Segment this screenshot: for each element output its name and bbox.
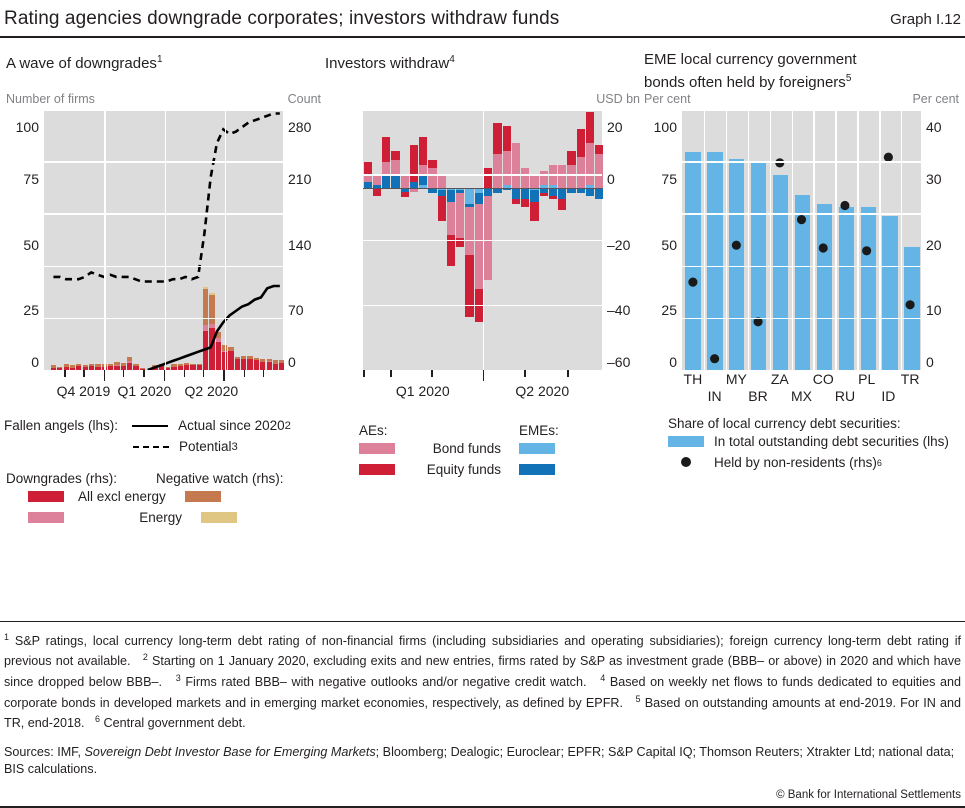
negwatch-legend-header: Negative watch (rhs): (156, 471, 284, 486)
bar-segment (493, 123, 501, 154)
bar-segment (438, 196, 446, 221)
eme-legend-header: EMEs: (519, 423, 559, 438)
panel1-unit-left: Number of firms (6, 92, 95, 107)
y-tick-label: 0 (602, 171, 615, 187)
bar-segment (558, 188, 566, 199)
bar-segment (558, 165, 566, 187)
y-tick-label: 50 (661, 237, 682, 253)
x-axis-label: Q1 2020 (396, 383, 450, 399)
gridline (682, 318, 921, 320)
swatch-ae-bond (359, 443, 395, 454)
gridline (682, 213, 921, 215)
gridline (682, 266, 921, 268)
y-tick-label: 0 (283, 354, 296, 370)
panel1-legend-bars: Downgrades (rhs): Negative watch (rhs): … (4, 471, 323, 528)
country-label: TR (901, 371, 920, 387)
y-tick-label: 30 (921, 171, 942, 187)
legend-potential-label: Potential (179, 439, 232, 454)
bar-segment (465, 255, 473, 317)
panels-row: A wave of downgrades1 Number of firms Co… (0, 38, 965, 528)
panel1-plot: 1007550250280210140700 (44, 109, 283, 370)
panel3-plot: 1007550250403020100 (682, 109, 921, 370)
bar-segment (540, 193, 548, 196)
legend-label-bond-funds: Bond funds (395, 441, 501, 456)
y-tick-label: 70 (283, 302, 304, 318)
data-point-dot (906, 300, 915, 309)
y-tick-label: 50 (23, 237, 44, 253)
bar-segment (558, 199, 566, 210)
gridline (44, 266, 283, 268)
bar-segment (493, 154, 501, 188)
bar-segment (382, 176, 390, 187)
data-point-dot (710, 354, 719, 363)
bar-segment (530, 190, 538, 201)
dot-marker-icon (668, 455, 704, 470)
bar-segment (521, 168, 529, 188)
country-label: RU (835, 388, 855, 404)
bar-segment (447, 190, 455, 201)
bar-segment (456, 193, 464, 238)
panel1-title-text: A wave of downgrades (6, 55, 157, 72)
bar-segment (503, 151, 511, 185)
gridline (44, 213, 283, 215)
swatch-downgrades-energy (28, 512, 64, 523)
x-tick-major (104, 370, 106, 381)
country-label: MX (791, 388, 812, 404)
panel1-title: A wave of downgrades1 (4, 50, 323, 92)
bar-segment (567, 151, 575, 165)
bar-segment (447, 202, 455, 236)
bar-segment (521, 188, 529, 199)
panel3-unit-left: Per cent (644, 92, 691, 107)
data-point-dot (775, 158, 784, 167)
panel1-units: Number of firms Count (4, 92, 323, 109)
country-label: IN (708, 388, 722, 404)
legend-label-nonresidents: Held by non-residents (rhs) (714, 455, 877, 470)
quarter-divider (165, 109, 167, 370)
panel3-country-labels: THINMYBRZAMXCORUPLIDTR (682, 370, 921, 410)
x-tick-minor (431, 370, 433, 377)
bar-segment (484, 196, 492, 280)
country-label: TH (684, 371, 703, 387)
legend-row-equity-funds: Equity funds (359, 459, 642, 480)
bar-segment (549, 196, 557, 199)
bar-segment (503, 126, 511, 151)
bar-segment (595, 145, 603, 153)
x-tick-minor (390, 370, 392, 377)
y-tick-label: –60 (602, 354, 630, 370)
footnote-text: Central government debt. (100, 717, 246, 731)
panel2-legend: AEs: EMEs: Bond funds Equity funds (323, 423, 642, 480)
y-tick-label: 0 (921, 354, 934, 370)
panel1-unit-right: Count (288, 92, 321, 107)
x-tick-major (164, 370, 166, 381)
quarter-divider (483, 109, 485, 370)
bar-segment (512, 143, 520, 188)
panel3-legend-header: Share of local currency debt securities: (668, 416, 961, 431)
x-tick-minor (123, 370, 125, 377)
y-tick-label: 75 (661, 171, 682, 187)
panel3-title-line2: bonds often held by foreigners (644, 74, 846, 91)
bar-segment (512, 188, 520, 199)
country-label: BR (748, 388, 767, 404)
y-tick-label: 140 (283, 237, 311, 253)
data-point-dot (862, 246, 871, 255)
downgrades-legend-header: Downgrades (rhs): (6, 471, 156, 486)
bar-segment (428, 168, 436, 188)
bar-segment (391, 176, 399, 187)
panel-eme-bonds: EME local currency government bonds ofte… (642, 50, 961, 528)
y-tick-label: –40 (602, 302, 630, 318)
y-tick-label: 40 (921, 119, 942, 135)
panel2-plot: 200–20–40–60 (363, 109, 602, 370)
x-tick-minor (524, 370, 526, 377)
x-axis-label: Q2 2020 (515, 383, 569, 399)
x-tick-minor (363, 370, 365, 377)
panel2-unit-right: USD bn (596, 92, 640, 107)
bar-segment (540, 171, 548, 185)
bar-segment (465, 207, 473, 255)
legend-potential-footnote-ref: 3 (232, 441, 238, 453)
panel1-title-footnote-ref: 1 (157, 54, 163, 65)
bar-segment (484, 168, 492, 188)
x-tick-minor (263, 370, 265, 377)
footnote-text: Firms rated BBB– with negative outlooks … (181, 675, 600, 689)
bar-segment (419, 137, 427, 165)
bar-segment (465, 188, 473, 205)
quarter-divider (104, 109, 106, 370)
bar-segment (391, 151, 399, 159)
panel3-legend: Share of local currency debt securities:… (642, 416, 961, 473)
bar-segment (586, 143, 594, 185)
y-tick-label: –20 (602, 237, 630, 253)
dashed-line-icon (133, 446, 169, 448)
bar-segment (438, 176, 446, 187)
legend-row-nonresidents: Held by non-residents (rhs)6 (668, 452, 961, 473)
x-axis-label: Q4 2019 (57, 383, 111, 399)
panel-downgrades: A wave of downgrades1 Number of firms Co… (4, 50, 323, 528)
data-point-dot (688, 278, 697, 287)
panel2-units: USD bn (323, 92, 642, 109)
y-tick-label: 25 (661, 302, 682, 318)
data-point-dot (732, 241, 741, 250)
y-tick-label: 0 (669, 354, 682, 370)
x-tick-minor (244, 370, 246, 377)
legend-label-all-excl-energy: All excl energy (78, 489, 166, 504)
quarter-divider (225, 109, 227, 370)
page-title: Rating agencies downgrade corporates; in… (4, 8, 559, 30)
legend-actual-label: Actual since 2020 (178, 418, 285, 433)
bar-segment (577, 129, 585, 157)
panel3-title-line1: EME local currency government (644, 51, 857, 68)
panel3-dots (682, 109, 921, 370)
panel2-title-text: Investors withdraw (325, 55, 449, 72)
potential-line (53, 114, 279, 282)
x-tick-major (483, 370, 485, 381)
legend-row-total-outstanding: In total outstanding debt securities (lh… (668, 431, 961, 452)
bar-segment (595, 188, 603, 199)
x-axis-label: Q2 2020 (184, 383, 238, 399)
y-tick-label: 20 (921, 237, 942, 253)
x-tick-minor (83, 370, 85, 377)
legend-row-energy: Energy (6, 507, 323, 528)
panel-investors-withdraw: Investors withdraw4 USD bn 200–20–40–60 … (323, 50, 642, 528)
solid-line-icon (132, 425, 168, 427)
y-tick-label: 100 (654, 119, 682, 135)
country-label: PL (858, 371, 875, 387)
panel3-title-footnote-ref: 5 (846, 73, 852, 84)
swatch-eme-bar (668, 436, 704, 447)
data-point-dot (840, 201, 849, 210)
bar-segment (419, 165, 427, 173)
legend-label-equity-funds: Equity funds (395, 462, 501, 477)
x-tick-minor (203, 370, 205, 377)
actual-line (148, 286, 280, 370)
panel3-units: Per cent Per cent (642, 92, 961, 109)
panel2-unit-left (325, 92, 328, 107)
swatch-negwatch-energy (201, 512, 237, 523)
swatch-negwatch-all (185, 491, 221, 502)
gridline (682, 109, 921, 111)
x-tick-minor (567, 370, 569, 377)
panel3-unit-right: Per cent (912, 92, 959, 107)
panel1-legend-lines: Fallen angels (lhs): Actual since 20202 … (4, 415, 323, 457)
zero-line (363, 188, 602, 190)
sources-note: Sources: IMF, Sovereign Debt Investor Ba… (0, 736, 965, 779)
panel1-plot-area: 1007550250280210140700 (4, 109, 323, 370)
data-point-dot (819, 243, 828, 252)
country-label: CO (813, 371, 834, 387)
x-tick-minor (64, 370, 66, 377)
panel2-xticks (363, 370, 602, 381)
legend-potential-row: Potential3 (4, 436, 323, 457)
sources-prefix: Sources: IMF, (4, 745, 84, 759)
gridline (682, 161, 921, 163)
panel2-title-footnote-ref: 4 (449, 54, 455, 65)
swatch-downgrades-all (28, 491, 64, 502)
bar-segment (401, 176, 409, 187)
panel2-xlabels: Q1 2020Q2 2020 (363, 381, 602, 403)
legend-row-all-excl-energy: All excl energy (6, 486, 323, 507)
panel1-xticks (44, 370, 283, 381)
legend-label-energy: Energy (78, 510, 182, 525)
y-tick-label: 25 (23, 302, 44, 318)
legend-nonresidents-footnote-ref: 6 (877, 458, 882, 468)
ae-legend-header: AEs: (359, 423, 519, 438)
data-point-dot (797, 215, 806, 224)
bar-segment (512, 199, 520, 205)
y-tick-label: 0 (31, 354, 44, 370)
legend-row-bond-funds: Bond funds (359, 438, 642, 459)
bar-segment (428, 160, 436, 168)
swatch-ae-equity (359, 464, 395, 475)
copyright-note: © Bank for International Settlements (0, 779, 965, 806)
panel2-title: Investors withdraw4 (323, 50, 642, 92)
panel2-plot-area: 200–20–40–60 (323, 109, 642, 370)
bar-segment (373, 176, 381, 184)
legend-label-total-outstanding: In total outstanding debt securities (lh… (714, 434, 949, 449)
gridline (44, 109, 283, 111)
gridline (44, 161, 283, 163)
graph-header: Rating agencies downgrade corporates; in… (0, 0, 965, 36)
bar-segment (364, 162, 372, 173)
bar-segment (530, 202, 538, 222)
y-tick-label: 20 (602, 119, 623, 135)
graph-number: Graph I.12 (890, 11, 961, 30)
bar-segment (530, 176, 538, 187)
sources-italic-title: Sovereign Debt Investor Base for Emergin… (84, 745, 375, 759)
gridline (44, 318, 283, 320)
bar-segment (410, 145, 418, 181)
x-axis-label: Q1 2020 (118, 383, 172, 399)
y-tick-label: 100 (16, 119, 44, 135)
legend-actual-footnote-ref: 2 (285, 420, 291, 432)
y-tick-label: 10 (921, 302, 942, 318)
x-tick-major (223, 370, 225, 381)
bar-segment (586, 112, 594, 143)
swatch-eme-bond (519, 443, 555, 454)
bar-segment (521, 199, 529, 207)
bar-segment (567, 165, 575, 187)
panel1-lines (44, 109, 283, 370)
footer: 1 S&P ratings, local currency long-term … (0, 621, 965, 808)
x-tick-minor (184, 370, 186, 377)
footnotes: 1 S&P ratings, local currency long-term … (0, 622, 965, 736)
y-tick-label: 280 (283, 119, 311, 135)
x-tick-minor (143, 370, 145, 377)
swatch-eme-equity (519, 464, 555, 475)
panel3-title: EME local currency government bonds ofte… (642, 50, 961, 92)
bar-segment (382, 137, 390, 162)
panel1-xlabels: Q4 2019Q1 2020Q2 2020 (44, 381, 283, 403)
legend-actual-row: Fallen angels (lhs): Actual since 20202 (4, 415, 323, 436)
y-tick-label: 75 (23, 171, 44, 187)
fallen-angels-label: Fallen angels (lhs): (4, 418, 118, 433)
country-label: ZA (771, 371, 789, 387)
panel3-plot-area: 1007550250403020100 (642, 109, 961, 370)
country-label: ID (881, 388, 895, 404)
bar-segment (401, 192, 409, 198)
y-tick-label: 210 (283, 171, 311, 187)
country-label: MY (726, 371, 747, 387)
bar-segment (577, 157, 585, 188)
